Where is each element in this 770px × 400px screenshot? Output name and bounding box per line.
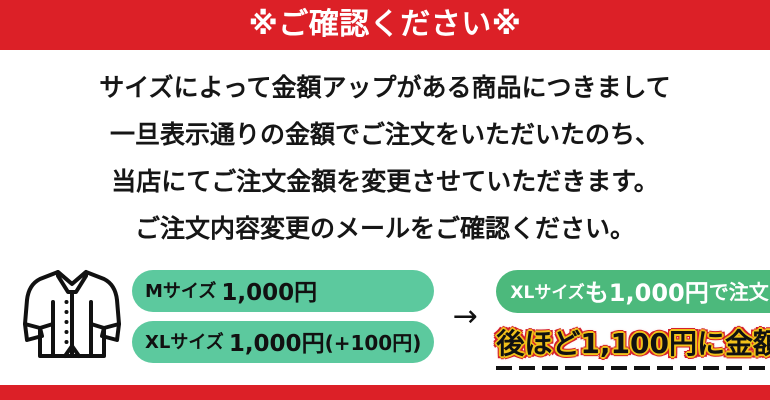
- notice-body: サイズによって金額アップがある商品につきまして 一旦表示通りの金額でご注文をいた…: [0, 50, 770, 252]
- notice-line-2: 一旦表示通りの金額でご注文をいただいたのち、: [0, 111, 770, 158]
- header-bar: ※ご確認ください※: [0, 0, 770, 50]
- notice-line-4: ご注文内容変更のメールをご確認ください。: [0, 205, 770, 252]
- arrow-glyph: →: [453, 302, 478, 332]
- notice-banner: ※ご確認ください※ サイズによって金額アップがある商品につきまして 一旦表示通り…: [0, 0, 770, 400]
- price-surcharge-xl: (+100円): [325, 327, 422, 356]
- page-title: ※ご確認ください※: [249, 10, 522, 40]
- arrow-right-icon: →: [434, 302, 496, 332]
- dashed-underline: [496, 366, 770, 370]
- notice-line-1: サイズによって金額アップがある商品につきまして: [0, 64, 770, 111]
- size-label-xl: XLサイズ: [145, 328, 224, 354]
- order-price-pill: XLサイズ も1,000円 で注文！: [496, 270, 770, 313]
- after-prices: XLサイズ も1,000円 で注文！ 後ほど1,100円に金額修正: [496, 270, 770, 370]
- notice-line-3: 当店にてご注文金額を変更させていただきます。: [0, 158, 770, 205]
- price-comparison: Mサイズ 1,000円 XLサイズ 1,000円 (+100円) → XLサイズ…: [0, 252, 770, 400]
- order-size-label: XLサイズ: [510, 278, 584, 303]
- before-prices: Mサイズ 1,000円 XLサイズ 1,000円 (+100円): [132, 270, 434, 363]
- price-amount-xl: 1,000円: [229, 324, 325, 358]
- size-label-m: Mサイズ: [145, 277, 216, 303]
- order-suffix: で注文！: [709, 276, 770, 305]
- order-amount: も1,000円: [585, 273, 709, 308]
- price-row-m: Mサイズ 1,000円: [132, 270, 434, 312]
- price-amount-m: 1,000円: [221, 273, 317, 307]
- footer-bar: [0, 385, 770, 400]
- price-correction-note: 後ほど1,100円に金額修正: [496, 322, 770, 362]
- dress-shirt-icon: [12, 262, 132, 366]
- price-row-xl: XLサイズ 1,000円 (+100円): [132, 321, 434, 363]
